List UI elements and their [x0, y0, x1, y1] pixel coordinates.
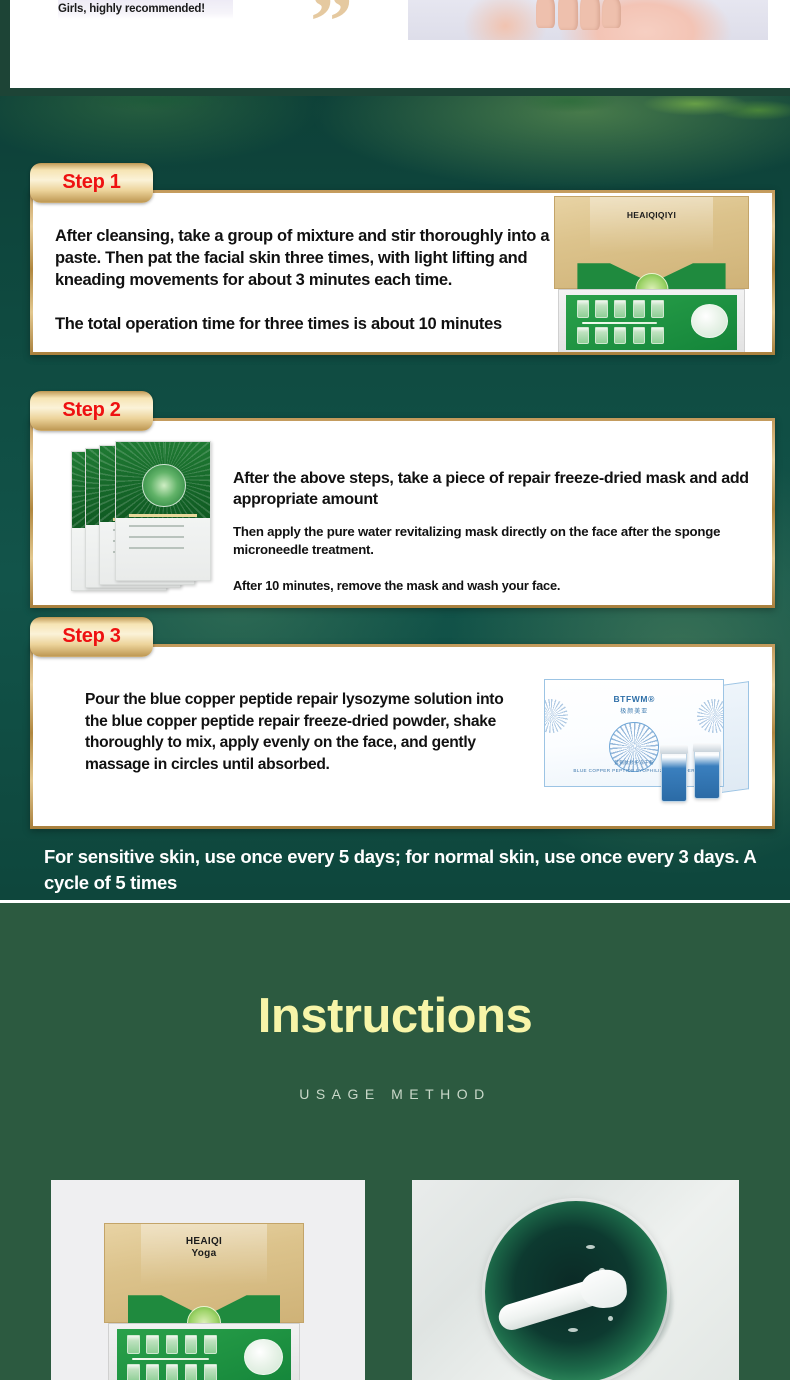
testimonial-photo	[408, 0, 768, 40]
mixing-dish	[691, 304, 728, 338]
leaf-decoration	[0, 96, 790, 122]
heaiqi-brand-line-2: Yoga	[105, 1248, 303, 1259]
step-2-badge-label: Step 2	[62, 399, 120, 422]
step-2-badge: Step 2	[30, 391, 153, 431]
box-tray-inner	[117, 1329, 292, 1380]
instructions-section: Instructions USAGE METHOD HEAIQI Yoga	[0, 903, 790, 1380]
heaiqi-yoga-box-art: HEAIQI Yoga	[104, 1223, 304, 1380]
testimonial-text: Girls, highly recommended!	[58, 3, 205, 15]
instructions-subtitle: USAGE METHOD	[0, 1086, 790, 1102]
mixing-dish	[244, 1339, 282, 1376]
mixed-green-paste-bowl-photo	[412, 1180, 739, 1380]
step-2-paragraph-2: After 10 minutes, remove the mask and wa…	[233, 577, 772, 594]
mixing-stick	[132, 1358, 209, 1360]
serum-vial	[694, 747, 721, 800]
mixing-stick	[582, 322, 657, 324]
how-to-use-section: Must see! How to use microneedle skin re…	[0, 96, 790, 900]
step-2-card: After the above steps, take a piece of r…	[33, 421, 772, 605]
mask-sachet	[115, 441, 211, 581]
instructions-title: Instructions	[0, 988, 790, 1044]
testimonial-strip: Girls, highly recommended! ”	[0, 0, 790, 96]
step-3-paragraph-1: Pour the blue copper peptide repair lyso…	[85, 689, 505, 775]
step-1-badge-label: Step 1	[62, 171, 120, 194]
step-3-text: Pour the blue copper peptide repair lyso…	[85, 689, 505, 775]
step-3-frame: Pour the blue copper peptide repair lyso…	[30, 644, 775, 829]
step-1-frame: After cleansing, take a group of mixture…	[30, 190, 775, 355]
usage-frequency-note: For sensitive skin, use once every 5 day…	[44, 844, 764, 896]
serum-vial	[661, 749, 688, 802]
box-tray	[108, 1323, 300, 1380]
box-tray-inner	[566, 295, 736, 350]
btfwm-brand-label: BTFWM®	[545, 694, 723, 704]
step-1-card: After cleansing, take a group of mixture…	[33, 193, 772, 352]
step-2-frame: After the above steps, take a piece of r…	[30, 418, 775, 608]
step-2-paragraph-1: Then apply the pure water revitalizing m…	[233, 523, 772, 559]
step-3-card: Pour the blue copper peptide repair lyso…	[33, 647, 772, 826]
box-tray	[558, 289, 745, 352]
box-side-panel	[722, 681, 749, 792]
freeze-dried-mask-sachets-image	[71, 441, 226, 593]
step-1-badge: Step 1	[30, 163, 153, 203]
box-brand-label: HEAIQIQIYI	[555, 210, 748, 220]
step-3-badge-label: Step 3	[62, 625, 120, 648]
btfwm-box-image: BTFWM® 极颜美亚 蓝铜肽修护冻干粉 BLUE COPPER PEPTIDE…	[544, 679, 749, 804]
step-2-heading: After the above steps, take a piece of r…	[233, 468, 772, 510]
quote-mark-icon: ”	[310, 0, 353, 64]
step-3-badge: Step 3	[30, 617, 153, 657]
heaiqiqiyi-kit-box-image: HEAIQIQIYI	[554, 196, 749, 352]
lid-sheen	[590, 197, 714, 253]
heaiqi-yoga-kit-photo: HEAIQI Yoga	[51, 1180, 365, 1380]
btfwm-brand-cn-label: 极颜美亚	[545, 706, 723, 715]
testimonial-card: Girls, highly recommended! ”	[10, 0, 790, 88]
heaiqi-brand-line-1: HEAIQI	[105, 1236, 303, 1247]
product-detail-page: Girls, highly recommended! ” Must see! H…	[0, 0, 790, 1380]
step-1-paragraph-1: After cleansing, take a group of mixture…	[55, 225, 555, 291]
step-1-text: After cleansing, take a group of mixture…	[55, 225, 555, 335]
step-2-text: After the above steps, take a piece of r…	[233, 468, 772, 594]
step-1-paragraph-2: The total operation time for three times…	[55, 313, 555, 335]
